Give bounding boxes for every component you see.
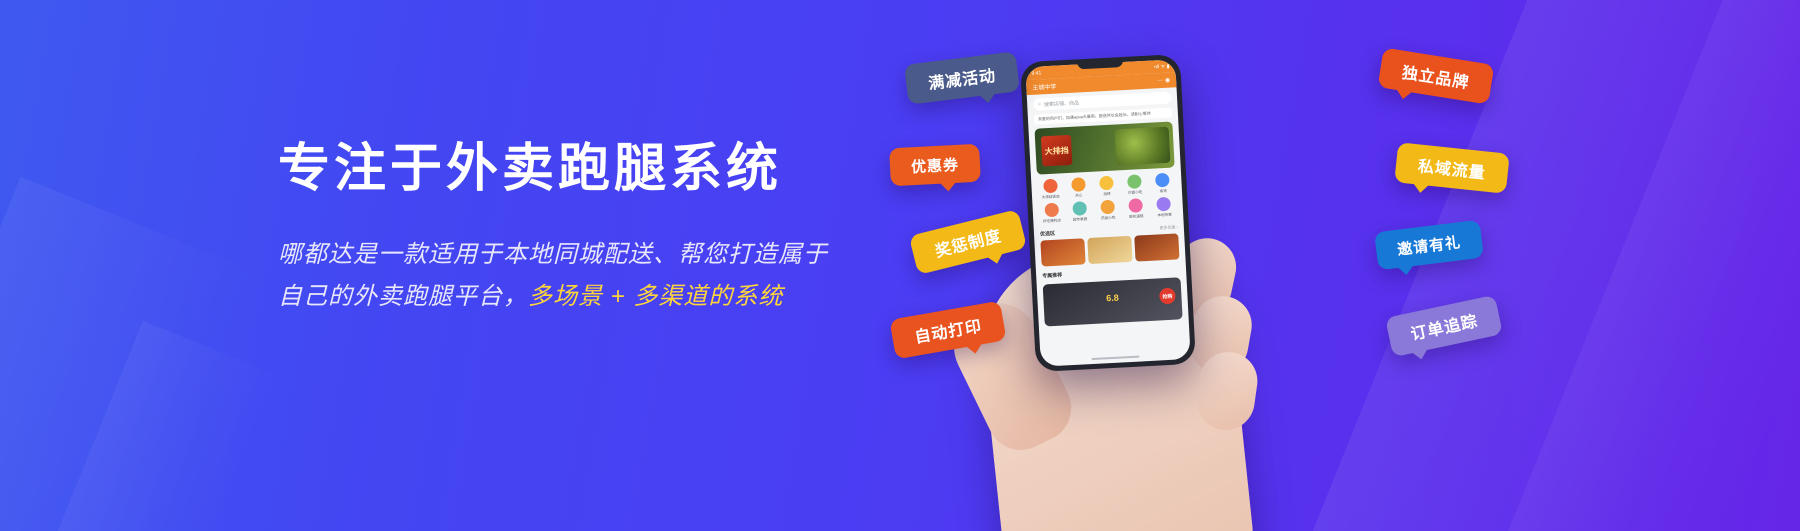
category-icon (1072, 201, 1087, 216)
status-time: 9:41 (1031, 70, 1041, 77)
category-label: 炒面小吃 (1128, 190, 1143, 196)
category-label: 本地特惠 (1157, 213, 1172, 219)
location-selector[interactable]: 王城中学 (1032, 82, 1056, 92)
category-item[interactable]: 鲜花蛋糕 (1123, 198, 1149, 220)
feature-badge-youhuiquan[interactable]: 优惠券 (889, 144, 981, 187)
promo-banner: 专注于外卖跑腿系统 哪都达是一款适用于本地同城配送、帮您打造属于 自己的外卖跑腿… (0, 0, 1800, 531)
banner-copy: 专注于外卖跑腿系统 哪都达是一款适用于本地同城配送、帮您打造属于 自己的外卖跑腿… (278, 140, 918, 318)
category-label: 烧烤 (1103, 192, 1110, 197)
phone-illustration: 9:41 •ıll ᯤ ▮ 王城中学 ⋯ ◉ ⌕ 搜索店铺、商品 亲爱的用户们，… (880, 0, 1600, 531)
category-icon (1071, 177, 1086, 192)
category-item[interactable]: 大排档饭店 (1037, 178, 1063, 200)
hero-promo-card[interactable]: 大排挡 (1034, 122, 1174, 175)
phone-screen: 9:41 •ıll ᯤ ▮ 王城中学 ⋯ ◉ ⌕ 搜索店铺、商品 亲爱的用户们，… (1025, 59, 1190, 366)
search-placeholder: 搜索店铺、商品 (1044, 99, 1079, 108)
category-icon (1100, 200, 1115, 215)
banner-subtitle-line-2: 自己的外卖跑腿平台，多场景 + 多渠道的系统 (278, 276, 918, 318)
youxuan-card-list (1040, 233, 1179, 266)
feature-badge-siyuliuliang[interactable]: 私域流量 (1394, 142, 1510, 193)
category-label: 药品小吃 (1101, 216, 1116, 222)
banner-headline: 专注于外卖跑腿系统 (278, 140, 918, 200)
feature-badge-label: 订单追踪 (1408, 307, 1480, 345)
category-item[interactable]: 本地特惠 (1151, 196, 1177, 218)
category-label: 大排档饭店 (1042, 195, 1060, 201)
category-icon (1099, 176, 1114, 191)
decorative-sheen (0, 177, 262, 531)
feature-badge-dulipinpai[interactable]: 独立品牌 (1378, 47, 1495, 104)
feature-badge-label: 私域流量 (1417, 153, 1487, 184)
category-icon (1128, 198, 1143, 213)
more-menu-icon[interactable]: ⋯ (1157, 78, 1163, 84)
banner-subtitle-line-1: 哪都达是一款适用于本地同城配送、帮您打造属于 (278, 234, 918, 276)
category-icon (1157, 197, 1172, 212)
youxuan-card[interactable] (1040, 238, 1085, 266)
appbar-actions[interactable]: ⋯ ◉ (1157, 77, 1170, 85)
category-label: 省钱 (1160, 189, 1167, 194)
hero-dish-image (1115, 127, 1171, 166)
category-item[interactable]: 超市果蔬 (1067, 201, 1093, 223)
product-price: 6.8 (1106, 293, 1119, 304)
category-item[interactable]: 炒面小吃 (1122, 174, 1148, 196)
category-icon (1127, 174, 1142, 189)
feature-badge-label: 自动打印 (912, 312, 983, 347)
feature-badge-label: 满减活动 (927, 62, 997, 94)
hero-brand-tag: 大排挡 (1041, 135, 1073, 167)
feature-badge-manjian[interactable]: 满减活动 (904, 51, 1020, 104)
category-item[interactable]: 点心 (1065, 177, 1091, 199)
phone-mockup: 9:41 •ıll ᯤ ▮ 王城中学 ⋯ ◉ ⌕ 搜索店铺、商品 亲爱的用户们，… (1020, 54, 1196, 372)
section-more-link[interactable]: 更多优惠 › (1159, 224, 1178, 231)
search-icon: ⌕ (1038, 101, 1041, 107)
feature-badge-yaoqingyouli[interactable]: 邀请有礼 (1374, 220, 1484, 271)
feature-badge-jiangcheng[interactable]: 奖惩制度 (909, 209, 1027, 275)
banner-subtitle-plain: 自己的外卖跑腿平台， (278, 283, 528, 310)
profile-icon[interactable]: ◉ (1165, 78, 1171, 84)
category-icon (1044, 203, 1059, 218)
youxuan-card[interactable] (1087, 236, 1132, 264)
feature-badge-label: 奖惩制度 (932, 222, 1004, 262)
section-title: 专属推荐 (1042, 271, 1062, 279)
youxuan-card[interactable] (1134, 233, 1179, 261)
home-indicator (1092, 356, 1140, 361)
quick-category-grid: 大排档饭店 点心 烧烤 炒面小吃 (1037, 172, 1177, 224)
section-title: 优选区 (1040, 230, 1055, 238)
category-item[interactable]: 好吃便利店 (1038, 202, 1064, 224)
status-indicators-icon: •ıll ᯤ ▮ (1154, 63, 1170, 70)
category-item[interactable]: 省钱 (1150, 172, 1176, 194)
category-label: 点心 (1075, 193, 1082, 198)
feature-badge-label: 优惠券 (910, 153, 959, 176)
feature-badge-label: 独立品牌 (1401, 59, 1472, 93)
category-icon (1043, 179, 1058, 194)
banner-subtitle-highlight: 多场景 + 多渠道的系统 (528, 283, 783, 310)
category-icon (1155, 173, 1170, 188)
feature-badge-label: 邀请有礼 (1396, 231, 1462, 260)
category-item[interactable]: 药品小吃 (1095, 199, 1121, 221)
category-item[interactable]: 烧烤 (1093, 175, 1119, 197)
buy-now-badge[interactable]: 抢购 (1159, 288, 1176, 305)
category-label: 超市果蔬 (1073, 217, 1088, 223)
featured-product-card[interactable]: 6.8 抢购 (1043, 277, 1183, 326)
feature-badge-dingdanzhuizong[interactable]: 订单追踪 (1385, 295, 1503, 357)
category-label: 鲜花蛋糕 (1129, 214, 1144, 220)
decorative-sheen (0, 321, 282, 531)
category-label: 好吃便利店 (1043, 218, 1061, 224)
